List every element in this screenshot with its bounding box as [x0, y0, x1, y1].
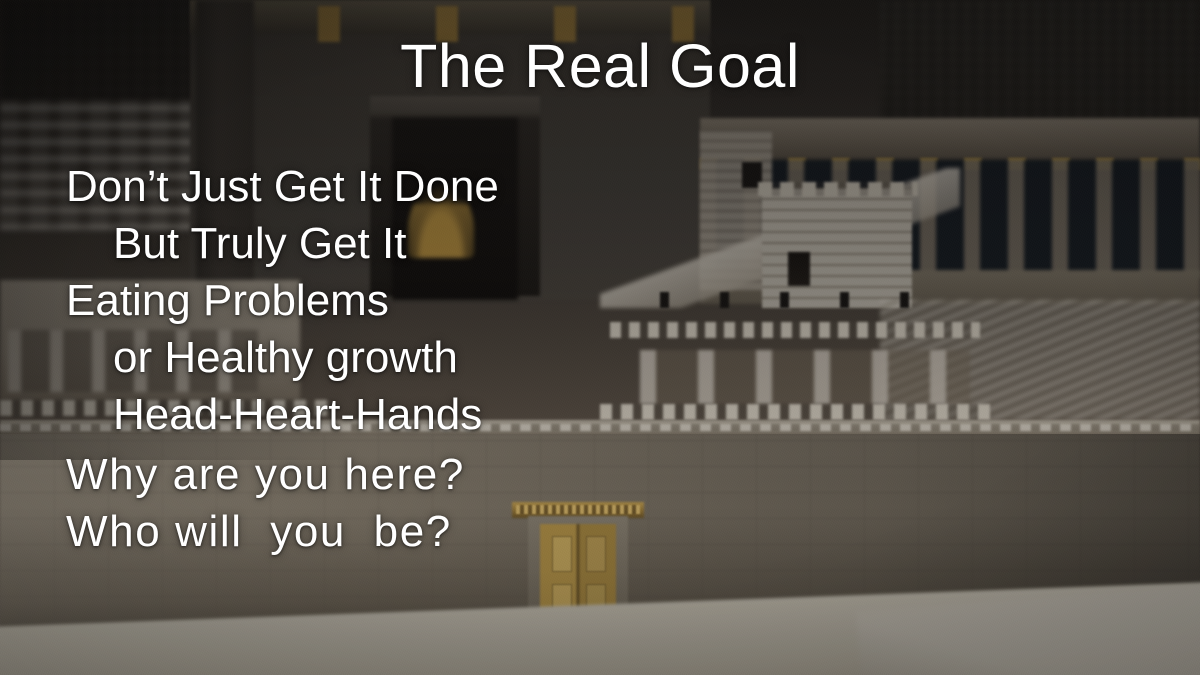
body-line-2: But Truly Get It: [66, 215, 766, 272]
slide-text-layer: The Real Goal Don’t Just Get It Done But…: [0, 0, 1200, 675]
slide-title: The Real Goal: [0, 36, 1200, 97]
body-line-6: Why are you here?: [66, 446, 766, 503]
body-line-4: or Healthy growth: [66, 329, 766, 386]
body-line-3: Eating Problems: [66, 272, 766, 329]
slide-body: Don’t Just Get It Done But Truly Get It …: [66, 158, 766, 560]
body-line-5: Head-Heart-Hands: [66, 386, 766, 443]
body-line-7: Who will you be?: [66, 503, 766, 560]
presentation-slide: The Real Goal Don’t Just Get It Done But…: [0, 0, 1200, 675]
body-line-1: Don’t Just Get It Done: [66, 158, 766, 215]
